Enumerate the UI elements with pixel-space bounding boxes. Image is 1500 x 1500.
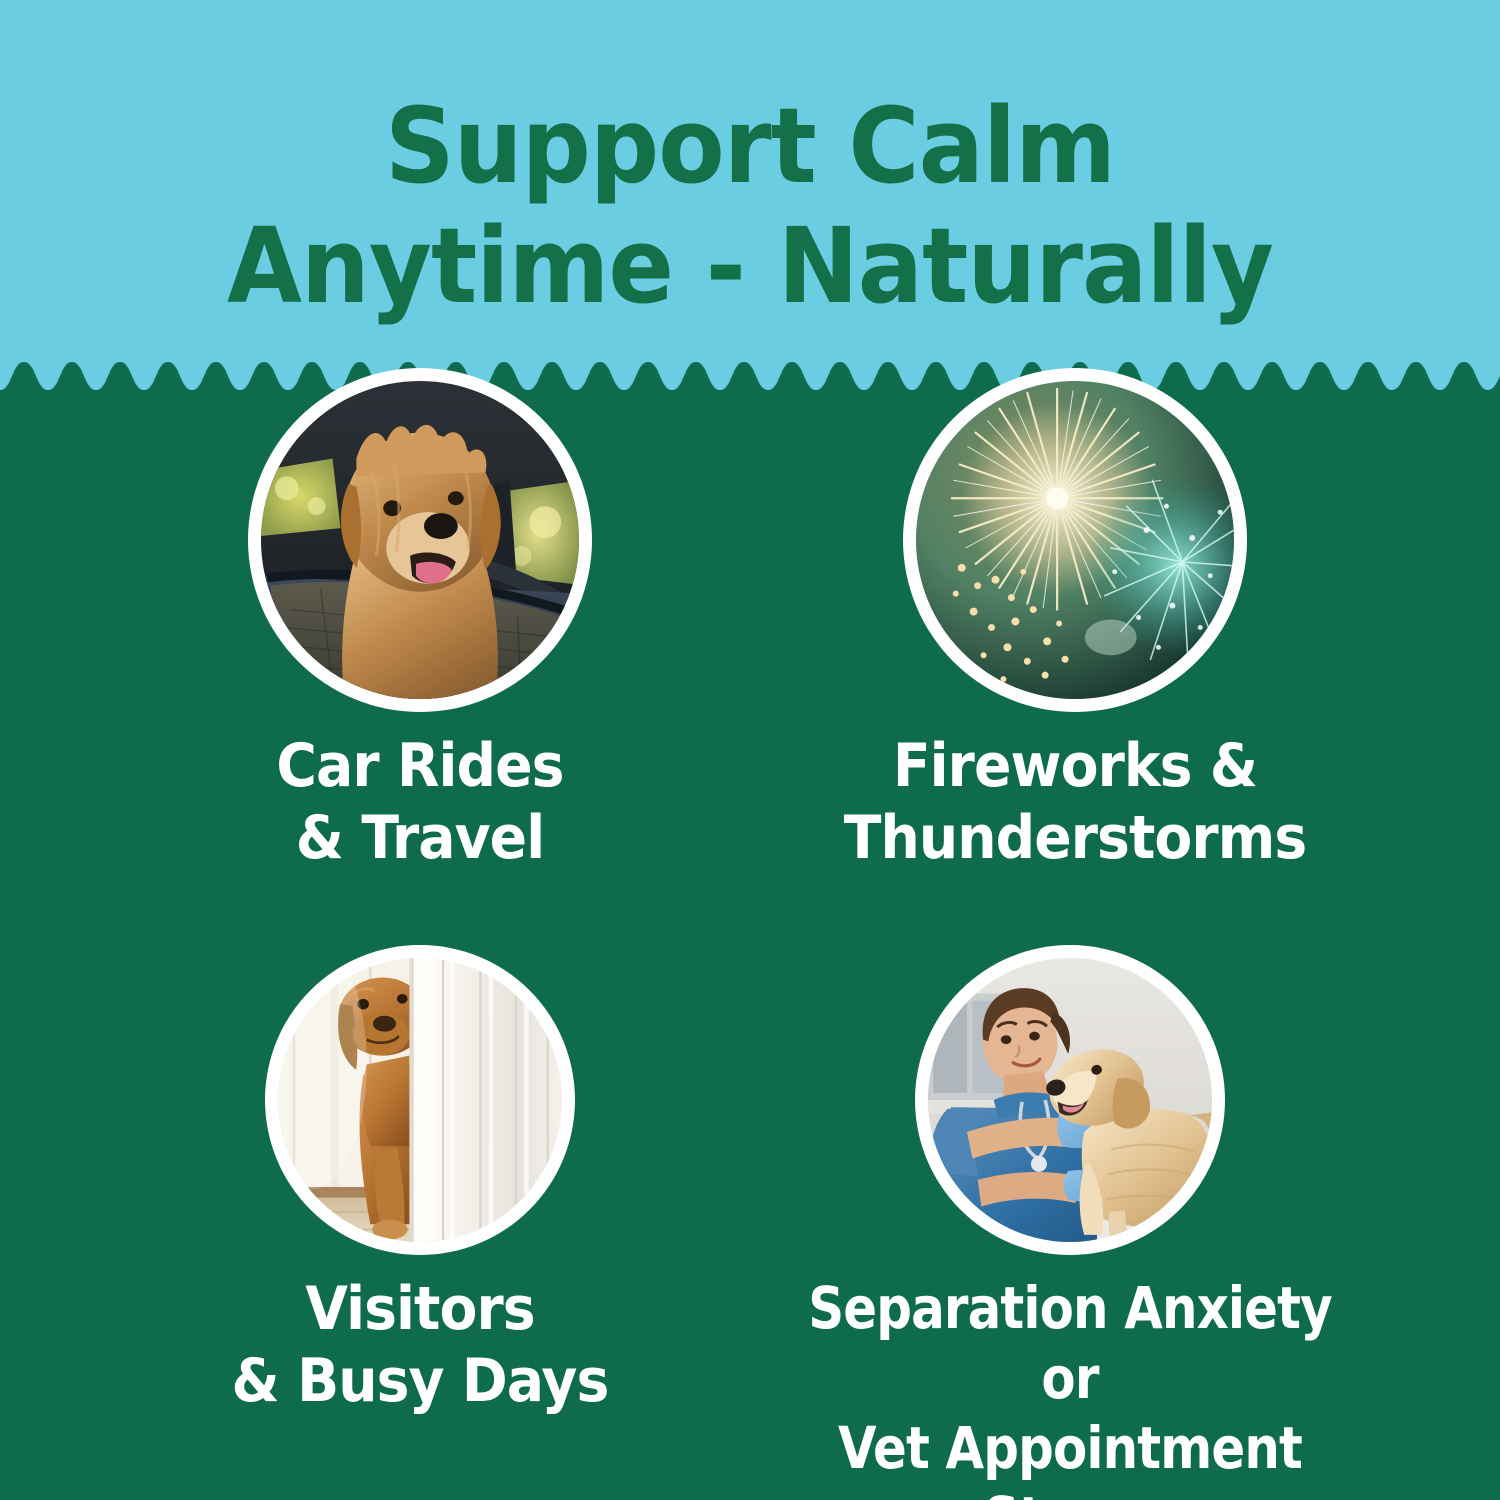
vet-with-dog-photo	[928, 958, 1212, 1242]
benefit-card-vet-stress: Separation Anxiety or Vet Appointment St…	[760, 945, 1380, 1500]
dog-in-car-photo	[261, 381, 579, 699]
page-title: Support Calm Anytime - Naturally	[53, 86, 1448, 326]
promo-poster: Support Calm Anytime - Naturally	[0, 0, 1500, 1500]
benefit-caption: Fireworks & Thunderstorms	[827, 730, 1324, 874]
dog-at-door-photo	[278, 958, 562, 1242]
benefit-caption: Visitors & Busy Days	[172, 1273, 669, 1417]
benefit-card-visitors: Visitors & Busy Days	[150, 945, 690, 1417]
photo-ring	[903, 368, 1247, 712]
benefit-card-fireworks: Fireworks & Thunderstorms	[805, 368, 1345, 874]
headline-line-2: Anytime - Naturally	[53, 206, 1448, 326]
fireworks-photo	[916, 381, 1234, 699]
benefits-grid: Car Rides & Travel	[0, 360, 1500, 1500]
headline-line-1: Support Calm	[53, 86, 1448, 206]
photo-ring	[265, 945, 575, 1255]
benefit-caption: Separation Anxiety or Vet Appointment St…	[803, 1273, 1336, 1500]
photo-ring	[248, 368, 592, 712]
benefit-caption: Car Rides & Travel	[172, 730, 669, 874]
benefit-card-car-rides: Car Rides & Travel	[150, 368, 690, 874]
photo-ring	[915, 945, 1225, 1255]
